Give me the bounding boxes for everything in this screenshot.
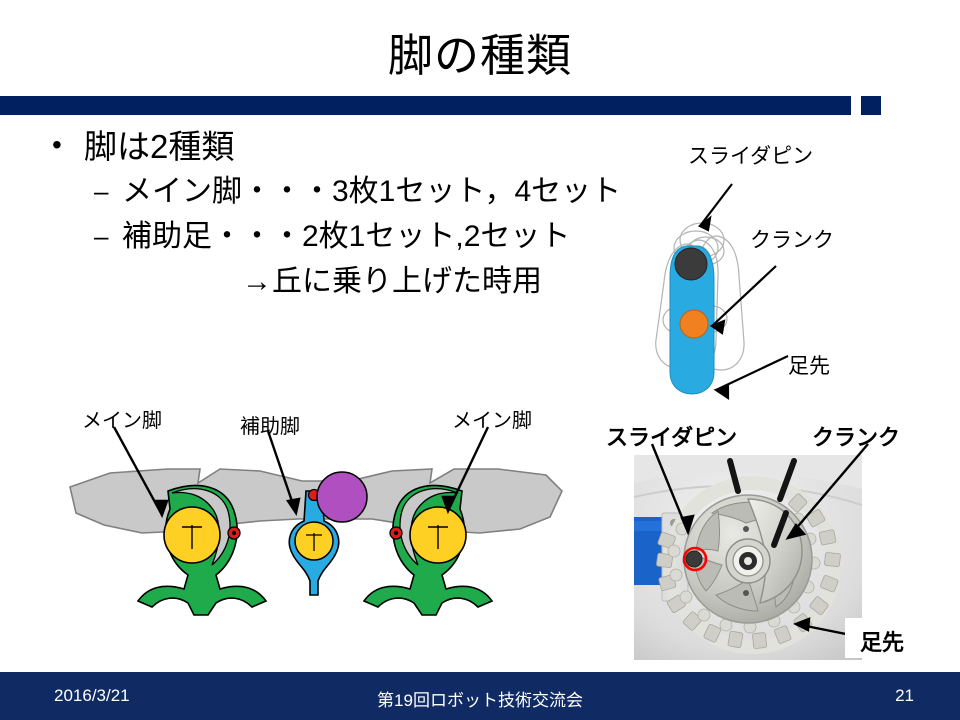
leg-link-diagram xyxy=(620,160,870,410)
title-accent-square xyxy=(861,96,881,115)
title-underline-bar xyxy=(0,96,851,115)
body-text-block: 脚は2種類 メイン脚・・・3枚1セット，4セット 補助足・・・2枚1セット,2セ… xyxy=(42,125,642,305)
slide-root: 脚の種類 脚は2種類 メイン脚・・・3枚1セット，4セット 補助足・・・2枚1セ… xyxy=(0,0,960,720)
bullet-level3-note: →丘に乗り上げた時用 xyxy=(42,259,642,305)
bullet-level2-aux-leg: 補助足・・・2枚1セット,2セット xyxy=(42,214,642,259)
chassis-cross-section-diagram xyxy=(50,425,580,625)
page-title: 脚の種類 xyxy=(0,28,960,84)
footer-event-name: 第19回ロボット技術交流会 xyxy=(0,686,960,711)
bullet-level2-main-leg: メイン脚・・・3枚1セット，4セット xyxy=(42,169,642,214)
footer-page-number: 21 xyxy=(895,686,914,706)
drive-pulley xyxy=(317,472,367,522)
crank-marker xyxy=(680,310,708,338)
bullet-level1: 脚は2種類 xyxy=(42,125,642,169)
photo-toe-label: 足先 xyxy=(860,625,904,657)
slider-pin-marker xyxy=(675,248,707,280)
